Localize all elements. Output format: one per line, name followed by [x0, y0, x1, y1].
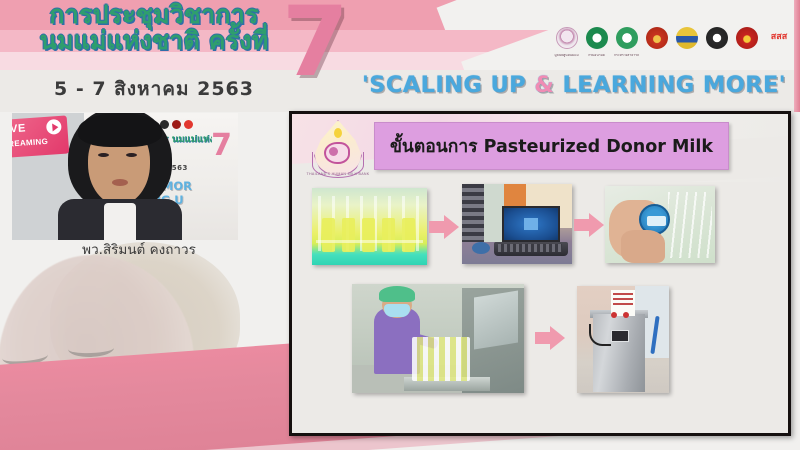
milk-bottle	[322, 218, 335, 252]
presentation-slide-panel: THAILAND'S HUMAN MILK BANK ขั้นตอนการ Pa…	[289, 111, 791, 436]
wall-panel-light	[484, 184, 504, 242]
slide-screenshot: การประชุมวิชาการ นมแม่แห่งชาติ ครั้งที่ …	[0, 0, 800, 450]
slide-title-banner: ขั้นตอนการ Pasteurized Donor Milk	[374, 122, 729, 170]
tagline-prefix: 'SCALING UP	[362, 72, 534, 98]
royal-emblem-logo	[674, 26, 699, 58]
wall-panel-striped	[462, 184, 484, 242]
tagline-suffix: LEARNING MORE'	[554, 72, 786, 98]
slide-title-text: ขั้นตอนการ Pasteurized Donor Milk	[390, 132, 713, 160]
logo-mark	[706, 27, 728, 49]
speaker-figure	[68, 113, 172, 240]
arrow-head	[589, 213, 604, 237]
laptop-keyboard	[498, 244, 562, 252]
laptop-screen-icon	[524, 218, 538, 230]
conference-header-banner: การประชุมวิชาการ นมแม่แห่งชาติ ครั้งที่ …	[0, 0, 800, 112]
bottle-group	[412, 337, 470, 381]
face-mask	[384, 304, 410, 317]
milk-bottle	[362, 218, 375, 252]
logo-caption: มูลนิธิศูนย์นมแม่	[554, 54, 579, 58]
speaker-shirt	[104, 203, 136, 240]
logo-mark	[616, 27, 638, 49]
milk-bottle	[342, 218, 355, 252]
ministry-public-health-logo: กรมอนามัย	[584, 26, 609, 58]
poster-edition-number: 7	[211, 131, 232, 161]
logo-mark	[586, 27, 608, 49]
speaker-video-thumbnail[interactable]: การประชุมวิชาการ นมแม่แห่งชาติ ครั้งที่ …	[12, 113, 238, 240]
royal-college-logo	[644, 26, 669, 58]
conference-date: 5 - 7 สิงหาคม 2563	[24, 74, 284, 104]
conference-title-thai: การประชุมวิชาการ นมแม่แห่งชาติ ครั้งที่	[24, 2, 284, 55]
photo-laptop-workstation	[462, 184, 572, 264]
surgical-cap	[379, 286, 415, 302]
sponsor-logo-row: มูลนิธิศูนย์นมแม่ กรมอนามัย กระทรวงสาธาร…	[554, 26, 794, 58]
conference-edition-number: 7	[282, 0, 349, 90]
arrow-icon	[574, 213, 604, 237]
speaker-name-label: พว.สิริมนต์ คงถาวร	[14, 238, 264, 260]
speaker-mouth	[112, 179, 128, 186]
arrow-head	[550, 326, 565, 350]
conference-title-line2: นมแม่แห่งชาติ ครั้งที่	[24, 28, 284, 54]
thai-breastfeeding-foundation-logo: มูลนิธิศูนย์นมแม่	[554, 26, 579, 58]
computer-mouse	[472, 242, 490, 254]
live-badge-label: LIVE	[12, 122, 26, 136]
machine-display-panel	[611, 330, 629, 342]
milk-bottle	[402, 218, 415, 252]
rack-shelf	[316, 240, 423, 243]
glass-tubing	[668, 192, 712, 258]
header-right-edge-accent	[794, 0, 800, 112]
photo-nurse-loading-bottles	[352, 284, 524, 393]
milk-bottle	[382, 218, 395, 252]
conference-title-line1: การประชุมวิชาการ	[49, 0, 258, 29]
play-icon	[46, 119, 62, 135]
hood-glass-panel	[474, 291, 518, 350]
speaker-eye-left	[98, 153, 109, 157]
speaker-fringe	[78, 113, 162, 147]
tagline-ampersand: &	[534, 72, 554, 98]
logo-caption: กรมอนามัย	[584, 54, 609, 58]
photo-temperature-probe	[605, 186, 715, 263]
medical-council-logo	[734, 26, 759, 58]
human-milk-bank-droplet-logo: THAILAND'S HUMAN MILK BANK	[304, 118, 372, 184]
photo-milk-bottles-rack	[312, 188, 427, 265]
logo-mark	[736, 27, 758, 49]
streaming-badge-label: STREAMING	[12, 137, 48, 150]
poster-logo-8	[184, 120, 193, 129]
poster-logo-7	[172, 120, 181, 129]
thaihealth-sss-logo: สสส	[764, 26, 794, 58]
logo-caption-text: THAILAND'S HUMAN MILK BANK	[301, 172, 375, 176]
droplet-highlight	[334, 128, 342, 138]
arrow-head	[444, 215, 459, 239]
arrow-icon	[429, 215, 459, 239]
logo-mark	[676, 27, 698, 49]
department-health-logo: กระทรวงสาธารณสุข	[614, 26, 639, 58]
arrow-icon	[535, 326, 565, 350]
hand-lower	[621, 230, 665, 263]
conference-tagline: 'SCALING UP & LEARNING MORE'	[362, 72, 790, 98]
logo-mark	[646, 27, 668, 49]
control-knob	[611, 312, 617, 318]
logo-mark	[556, 27, 578, 49]
live-streaming-badge: LIVE STREAMING	[12, 115, 69, 158]
mahidol-university-logo	[704, 26, 729, 58]
speaker-eye-right	[126, 153, 137, 157]
control-knob	[623, 312, 629, 318]
logo-caption: กระทรวงสาธารณสุข	[614, 54, 639, 58]
photo-pasteurizer-machine	[577, 286, 669, 393]
logo-mark: สสส	[764, 28, 794, 46]
